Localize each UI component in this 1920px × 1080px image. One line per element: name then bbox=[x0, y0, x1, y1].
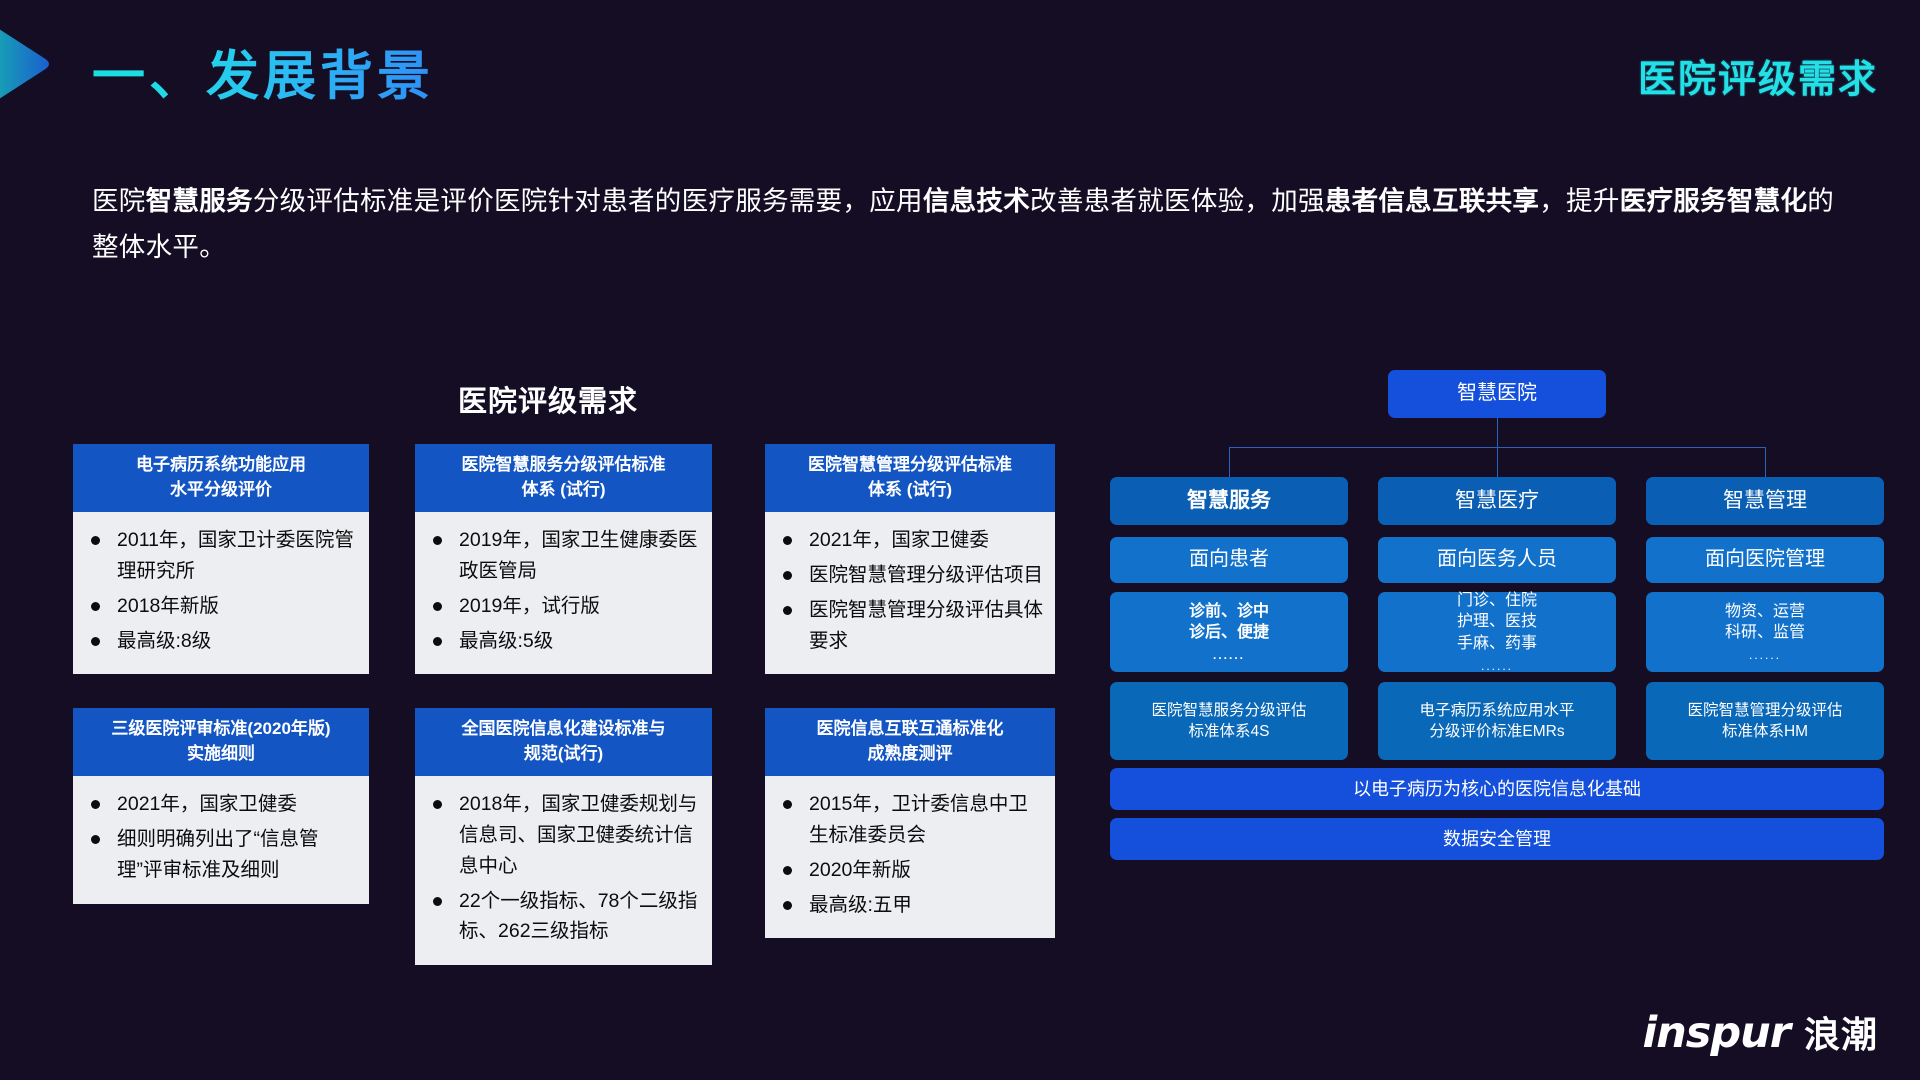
intro-segment: 智慧服务 bbox=[146, 186, 253, 216]
diagram-level-b-node: 面向医院管理 bbox=[1646, 537, 1884, 583]
requirement-bullet: 细则明确列出了“信息管理”评审标准及细则 bbox=[87, 824, 359, 886]
card-title-line: 规范(试行) bbox=[421, 742, 706, 767]
left-section-heading: 医院评级需求 bbox=[458, 378, 638, 420]
diagram-base-bar: 数据安全管理 bbox=[1110, 818, 1884, 860]
diagram-level-a-node: 智慧管理 bbox=[1646, 477, 1884, 525]
connector-vertical-branch bbox=[1765, 447, 1766, 477]
requirement-bullet-list: 2011年，国家卫计委医院管理研究所2018年新版最高级:8级 bbox=[87, 525, 359, 656]
card-title-line: 全国医院信息化建设标准与 bbox=[421, 717, 706, 742]
intro-segment: 医疗服务智慧化 bbox=[1620, 186, 1808, 216]
diagram-level-d-node: 电子病历系统应用水平分级评价标准EMRs bbox=[1378, 682, 1616, 760]
connector-vertical-root bbox=[1497, 418, 1498, 447]
requirement-card-title: 医院智慧服务分级评估标准体系 (试行) bbox=[415, 444, 712, 512]
diagram-root-node: 智慧医院 bbox=[1388, 370, 1606, 418]
requirement-bullet: 2020年新版 bbox=[779, 855, 1045, 886]
requirement-bullet-list: 2015年，卫计委信息中卫生标准委员会2020年新版最高级:五甲 bbox=[779, 789, 1045, 920]
node-text: 电子病历系统应用水平分级评价标准EMRs bbox=[1419, 700, 1574, 742]
node-text: 医院智慧管理分级评估标准体系HM bbox=[1687, 700, 1842, 742]
requirement-card: 医院信息互联互通标准化成熟度测评2015年，卫计委信息中卫生标准委员会2020年… bbox=[765, 708, 1055, 938]
logo-wordmark: inspur bbox=[1642, 1008, 1790, 1058]
requirement-card-body: 2021年，国家卫健委医院智慧管理分级评估项目医院智慧管理分级评估具体要求 bbox=[765, 512, 1055, 674]
requirement-card-title: 电子病历系统功能应用水平分级评价 bbox=[73, 444, 369, 512]
intro-segment: ，提升 bbox=[1539, 186, 1619, 216]
card-title-line: 医院智慧管理分级评估标准 bbox=[771, 453, 1049, 478]
requirement-bullet: 22个一级指标、78个二级指标、262三级指标 bbox=[429, 886, 702, 948]
intro-segment: 医院 bbox=[92, 186, 146, 216]
diagram-level-c-node: 物资、运营科研、监管...... bbox=[1646, 592, 1884, 672]
requirement-card: 三级医院评审标准(2020年版)实施细则2021年，国家卫健委细则明确列出了“信… bbox=[73, 708, 369, 904]
diagram-level-c-node: 诊前、诊中诊后、便捷...... bbox=[1110, 592, 1348, 672]
intro-segment: 改善患者就医体验，加强 bbox=[1030, 186, 1325, 216]
node-text: 诊前、诊中诊后、便捷...... bbox=[1189, 601, 1269, 664]
diagram-level-a-node: 智慧服务 bbox=[1110, 477, 1348, 525]
header-right-label: 医院评级需求 bbox=[1638, 48, 1878, 103]
diagram-level-b-node: 面向医务人员 bbox=[1378, 537, 1616, 583]
intro-segment: 信息技术 bbox=[923, 186, 1030, 216]
ellipsis-text: ...... bbox=[1189, 647, 1269, 663]
intro-paragraph: 医院智慧服务分级评估标准是评价医院针对患者的医疗服务需要，应用信息技术改善患者就… bbox=[92, 178, 1842, 271]
node-text: 智慧管理 bbox=[1723, 487, 1807, 516]
requirement-bullet: 2019年，国家卫生健康委医政医管局 bbox=[429, 525, 702, 587]
node-text: 智慧服务 bbox=[1187, 487, 1271, 516]
requirement-bullet: 最高级:8级 bbox=[87, 626, 359, 657]
ellipsis-text: ...... bbox=[1725, 647, 1805, 663]
requirement-bullet: 2011年，国家卫计委医院管理研究所 bbox=[87, 525, 359, 587]
card-title-line: 体系 (试行) bbox=[771, 478, 1049, 503]
requirement-bullet: 2015年，卫计委信息中卫生标准委员会 bbox=[779, 789, 1045, 851]
diagram-level-a-node: 智慧医疗 bbox=[1378, 477, 1616, 525]
intro-segment: 患者信息互联共享 bbox=[1325, 186, 1539, 216]
card-title-line: 实施细则 bbox=[79, 742, 363, 767]
diagram-level-d-node: 医院智慧管理分级评估标准体系HM bbox=[1646, 682, 1884, 760]
requirement-card-body: 2021年，国家卫健委细则明确列出了“信息管理”评审标准及细则 bbox=[73, 776, 369, 903]
requirement-card-title: 医院信息互联互通标准化成熟度测评 bbox=[765, 708, 1055, 776]
card-title-line: 体系 (试行) bbox=[421, 478, 706, 503]
requirement-bullet: 2021年，国家卫健委 bbox=[87, 789, 359, 820]
requirement-bullet: 最高级:五甲 bbox=[779, 890, 1045, 921]
requirement-card-title: 全国医院信息化建设标准与规范(试行) bbox=[415, 708, 712, 776]
node-text: 物资、运营科研、监管...... bbox=[1725, 601, 1805, 664]
node-text-line: 医院智慧服务分级评估 bbox=[1151, 700, 1306, 721]
requirement-bullet-list: 2018年，国家卫健委规划与信息司、国家卫健委统计信息中心22个一级指标、78个… bbox=[429, 789, 702, 947]
card-title-line: 成熟度测评 bbox=[771, 742, 1049, 767]
requirement-card: 电子病历系统功能应用水平分级评价2011年，国家卫计委医院管理研究所2018年新… bbox=[73, 444, 369, 674]
node-text-line: 诊后、便捷 bbox=[1189, 622, 1269, 644]
diagram-level-d-node: 医院智慧服务分级评估标准体系4S bbox=[1110, 682, 1348, 760]
requirement-bullet: 2018年新版 bbox=[87, 591, 359, 622]
requirement-card-title: 三级医院评审标准(2020年版)实施细则 bbox=[73, 708, 369, 776]
node-text-line: 标准体系HM bbox=[1687, 721, 1842, 742]
card-title-line: 医院信息互联互通标准化 bbox=[771, 717, 1049, 742]
node-text-line: 护理、医技 bbox=[1457, 611, 1537, 633]
node-text: 医院智慧服务分级评估标准体系4S bbox=[1151, 700, 1306, 742]
requirement-bullet-list: 2021年，国家卫健委医院智慧管理分级评估项目医院智慧管理分级评估具体要求 bbox=[779, 525, 1045, 656]
logo-chinese-name: 浪潮 bbox=[1804, 1006, 1878, 1058]
requirement-card-body: 2015年，卫计委信息中卫生标准委员会2020年新版最高级:五甲 bbox=[765, 776, 1055, 938]
ellipsis-text: ...... bbox=[1457, 658, 1537, 674]
card-title-line: 三级医院评审标准(2020年版) bbox=[79, 717, 363, 742]
requirement-card-body: 2018年，国家卫健委规划与信息司、国家卫健委统计信息中心22个一级指标、78个… bbox=[415, 776, 712, 965]
node-text-line: 标准体系4S bbox=[1151, 721, 1306, 742]
requirement-bullet: 医院智慧管理分级评估项目 bbox=[779, 560, 1045, 591]
requirement-card-body: 2011年，国家卫计委医院管理研究所2018年新版最高级:8级 bbox=[73, 512, 369, 674]
node-text-line: 医院智慧管理分级评估 bbox=[1687, 700, 1842, 721]
node-text-line: 手麻、药事 bbox=[1457, 633, 1537, 655]
node-text-line: 物资、运营 bbox=[1725, 601, 1805, 623]
inspur-logo: inspur 浪潮 bbox=[1642, 1006, 1878, 1058]
requirement-bullet: 最高级:5级 bbox=[429, 626, 702, 657]
requirement-card-title: 医院智慧管理分级评估标准体系 (试行) bbox=[765, 444, 1055, 512]
header-arrow-icon bbox=[0, 14, 62, 114]
requirement-bullet-list: 2021年，国家卫健委细则明确列出了“信息管理”评审标准及细则 bbox=[87, 789, 359, 885]
smart-hospital-diagram: 智慧医院智慧服务面向患者诊前、诊中诊后、便捷......医院智慧服务分级评估标准… bbox=[1110, 370, 1885, 930]
intro-segment: 分级评估标准是评价医院针对患者的医疗服务需要，应用 bbox=[253, 186, 923, 216]
node-text-line: 门诊、住院 bbox=[1457, 590, 1537, 612]
node-text: 门诊、住院护理、医技手麻、药事...... bbox=[1457, 590, 1537, 675]
node-text: 智慧医疗 bbox=[1455, 487, 1539, 516]
node-text-line: 电子病历系统应用水平 bbox=[1419, 700, 1574, 721]
card-title-line: 电子病历系统功能应用 bbox=[79, 453, 363, 478]
connector-vertical-branch bbox=[1229, 447, 1230, 477]
requirement-card: 全国医院信息化建设标准与规范(试行)2018年，国家卫健委规划与信息司、国家卫健… bbox=[415, 708, 712, 965]
connector-vertical-branch bbox=[1497, 447, 1498, 477]
diagram-level-c-node: 门诊、住院护理、医技手麻、药事...... bbox=[1378, 592, 1616, 672]
requirement-bullet-list: 2019年，国家卫生健康委医政医管局2019年，试行版最高级:5级 bbox=[429, 525, 702, 656]
card-title-line: 医院智慧服务分级评估标准 bbox=[421, 453, 706, 478]
requirement-card-body: 2019年，国家卫生健康委医政医管局2019年，试行版最高级:5级 bbox=[415, 512, 712, 674]
card-title-line: 水平分级评价 bbox=[79, 478, 363, 503]
requirement-card: 医院智慧服务分级评估标准体系 (试行)2019年，国家卫生健康委医政医管局201… bbox=[415, 444, 712, 674]
node-text-line: 诊前、诊中 bbox=[1189, 601, 1269, 623]
page-title: 一、发展背景 bbox=[92, 34, 434, 110]
diagram-base-bar: 以电子病历为核心的医院信息化基础 bbox=[1110, 768, 1884, 810]
node-text-line: 科研、监管 bbox=[1725, 622, 1805, 644]
requirement-card: 医院智慧管理分级评估标准体系 (试行)2021年，国家卫健委医院智慧管理分级评估… bbox=[765, 444, 1055, 674]
requirement-bullet: 2021年，国家卫健委 bbox=[779, 525, 1045, 556]
requirement-bullet: 2019年，试行版 bbox=[429, 591, 702, 622]
node-text-line: 分级评价标准EMRs bbox=[1419, 721, 1574, 742]
diagram-level-b-node: 面向患者 bbox=[1110, 537, 1348, 583]
requirement-bullet: 2018年，国家卫健委规划与信息司、国家卫健委统计信息中心 bbox=[429, 789, 702, 881]
requirement-bullet: 医院智慧管理分级评估具体要求 bbox=[779, 595, 1045, 657]
